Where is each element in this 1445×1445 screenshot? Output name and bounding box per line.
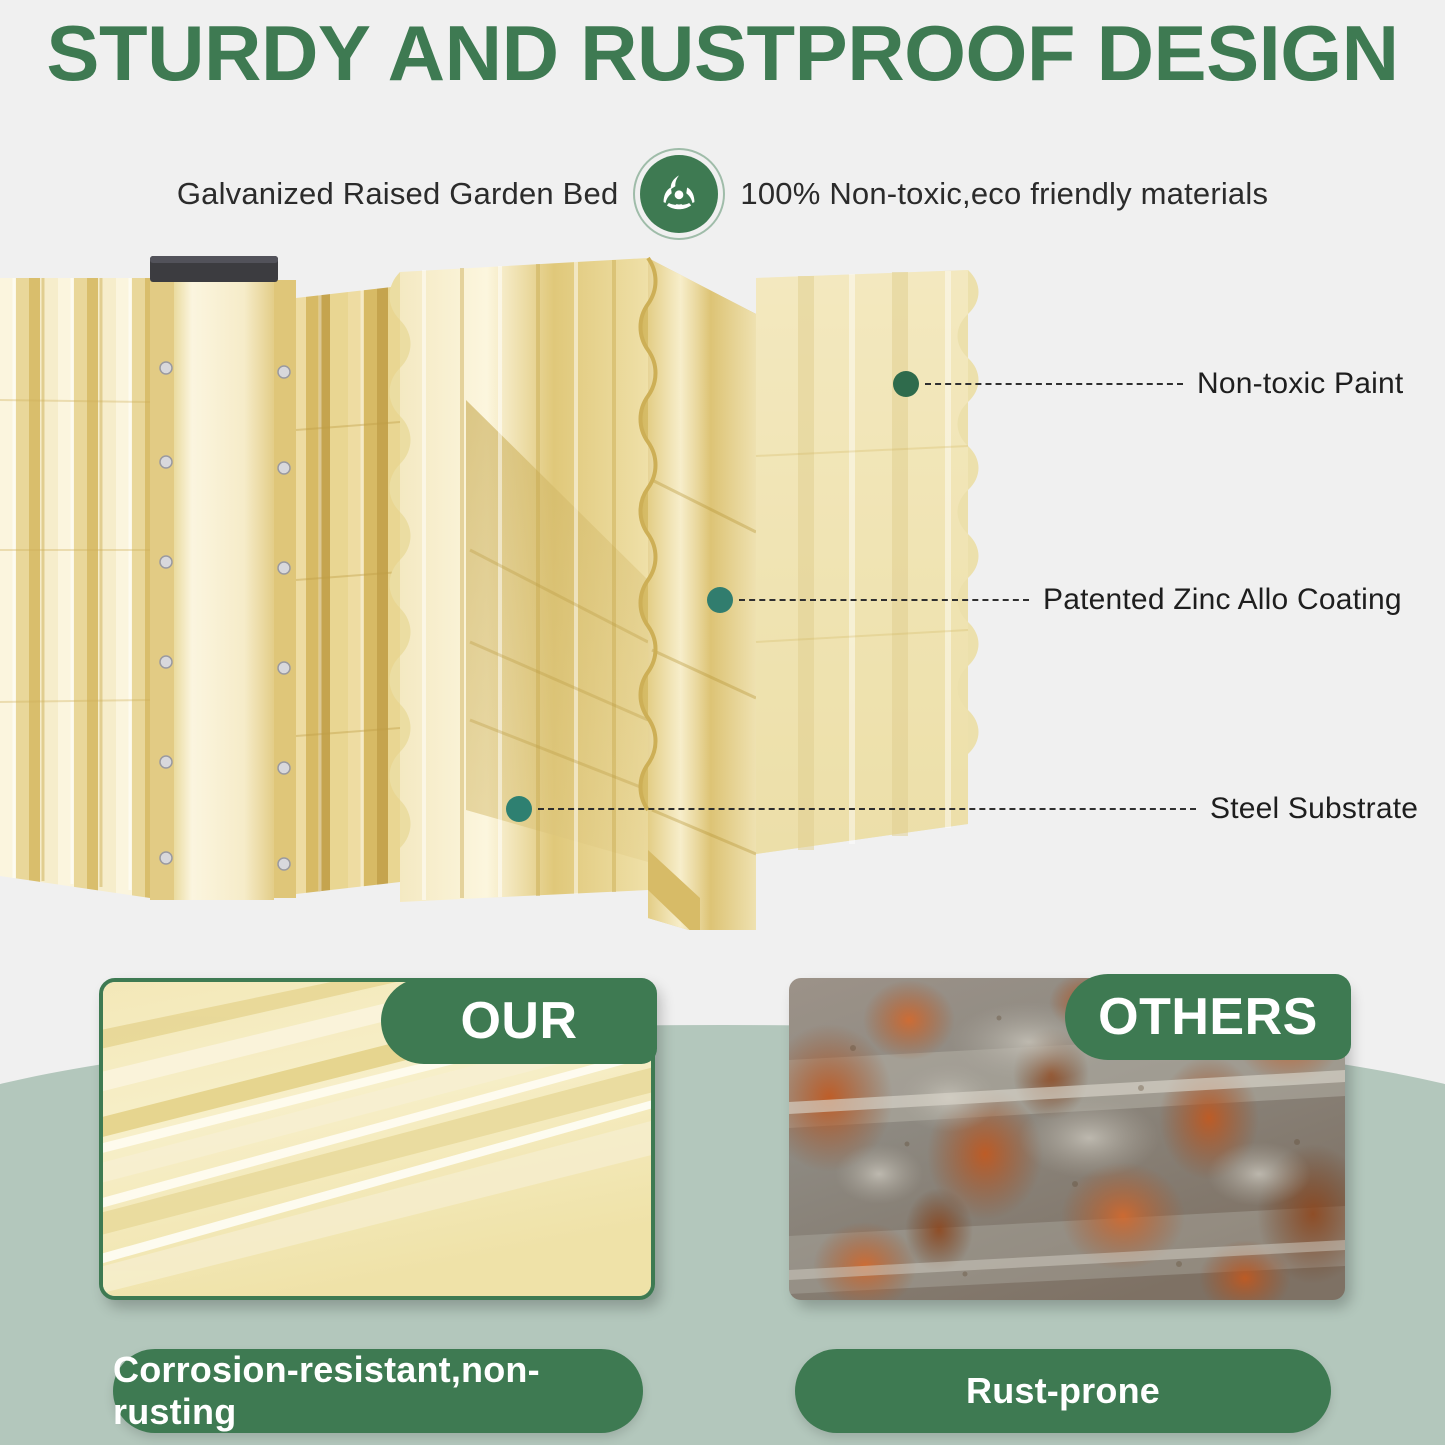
callout-dot-1 bbox=[707, 587, 733, 613]
eco-recycle-leaf-icon bbox=[640, 155, 718, 233]
callout-zinc-coating: Patented Zinc Allo Coating bbox=[707, 583, 1402, 617]
subtitle-right-text: 100% Non-toxic,eco friendly materials bbox=[740, 176, 1268, 212]
callout-leader-line-1 bbox=[739, 599, 1029, 601]
subtitle-row: Galvanized Raised Garden Bed 100% Non-to… bbox=[0, 155, 1445, 233]
subtitle-left-text: Galvanized Raised Garden Bed bbox=[177, 176, 619, 212]
callout-label-0: Non-toxic Paint bbox=[1197, 367, 1403, 401]
callout-non-toxic-paint: Non-toxic Paint bbox=[893, 367, 1403, 401]
caption-our: Corrosion-resistant,non-rusting bbox=[113, 1349, 643, 1433]
badge-others: OTHERS bbox=[1065, 974, 1351, 1060]
callout-dot-2 bbox=[506, 796, 532, 822]
corrugated-sheet-right-leaf bbox=[756, 270, 979, 854]
callout-leader-line-0 bbox=[925, 383, 1183, 385]
mid-corrugated-wall bbox=[296, 286, 400, 894]
corner-post bbox=[150, 256, 296, 900]
callout-steel-substrate: Steel Substrate bbox=[506, 792, 1418, 826]
badge-our: OUR bbox=[381, 978, 657, 1064]
comparison-card-our: OUR bbox=[99, 978, 655, 1300]
comparison-card-others: OTHERS bbox=[789, 978, 1345, 1300]
callout-label-2: Steel Substrate bbox=[1210, 792, 1418, 826]
comparison-section: OUR bbox=[0, 978, 1445, 1308]
callout-leader-line-2 bbox=[538, 808, 1196, 810]
callout-label-1: Patented Zinc Allo Coating bbox=[1043, 583, 1402, 617]
callout-dot-0 bbox=[893, 371, 919, 397]
caption-others: Rust-prone bbox=[795, 1349, 1331, 1433]
left-corrugated-wall bbox=[0, 278, 150, 898]
page-title: STURDY AND RUSTPROOF DESIGN bbox=[0, 14, 1445, 92]
infographic-page: STURDY AND RUSTPROOF DESIGN Galvanized R… bbox=[0, 0, 1445, 1445]
